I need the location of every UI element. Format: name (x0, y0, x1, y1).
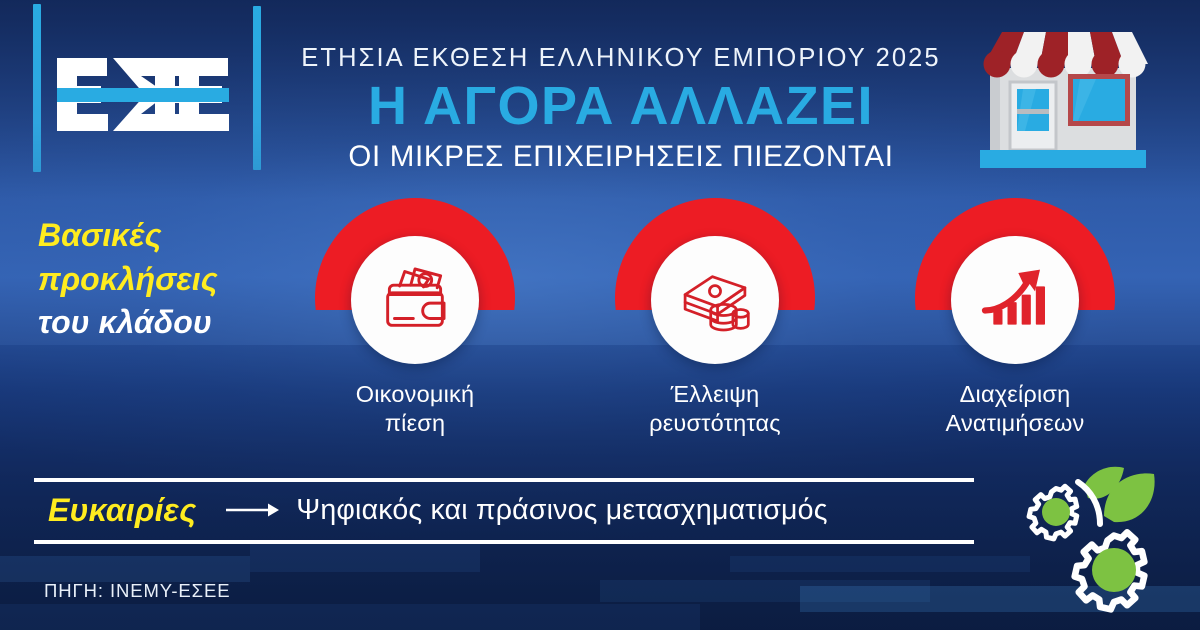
background-stripe (730, 556, 1030, 572)
challenges-heading: Βασικές προκλήσεις του κλάδου (38, 214, 303, 345)
shop-storefront-icon (968, 24, 1158, 184)
challenge-card-label: Οικονομική πίεση (297, 380, 533, 437)
challenges-heading-line-3: του κλάδου (38, 301, 303, 345)
challenge-card-label: Διαχείριση Ανατιμήσεων (897, 380, 1133, 437)
background-stripe (0, 556, 250, 582)
challenge-card-label: Έλλειψη ρευστότητας (597, 380, 833, 437)
challenge-label-line-1: Έλλειψη (597, 380, 833, 409)
sub-headline: ΟΙ ΜΙΚΡΕΣ ΕΠΙΧΕΙΡΗΣΕΙΣ ΠΙΕΖΟΝΤΑΙ (276, 142, 966, 172)
challenge-card-economic-pressure: Οικονομική πίεση (297, 198, 533, 437)
challenges-heading-line-1: Βασικές (38, 214, 303, 258)
icon-disc (351, 236, 479, 364)
source-note: ΠΗΓΗ: ΙΝΕΜΥ-ΕΣΕΕ (44, 580, 230, 602)
opportunities-text: Ψηφιακός και πράσινος μετασχηματισμός (296, 494, 827, 527)
rising-bar-chart-arrow-icon (975, 258, 1055, 343)
challenge-label-line-1: Διαχείριση (897, 380, 1133, 409)
report-kicker: ΕΤΗΣΙΑ ΕΚΘΕΣΗ ΕΛΛΗΝΙΚΟΥ ΕΜΠΟΡΙΟΥ 2025 (276, 46, 966, 72)
divider-line-top (34, 478, 974, 482)
accent-bar-middle (253, 6, 261, 170)
background-stripe (0, 604, 700, 630)
opportunities-label: Ευκαιρίες (48, 492, 196, 529)
cash-stack-and-coins-icon (674, 257, 756, 344)
wallet-with-banknotes-icon (374, 257, 456, 344)
esee-logo (55, 52, 230, 137)
challenge-label-line-2: ρευστότητας (597, 409, 833, 438)
challenge-card-price-increase-management: Διαχείριση Ανατιμήσεων (897, 198, 1133, 437)
challenge-card-liquidity-shortage: Έλλειψη ρευστότητας (597, 198, 833, 437)
challenge-label-line-1: Οικονομική (297, 380, 533, 409)
challenges-heading-line-2: προκλήσεις (38, 258, 303, 302)
accent-bar-left (33, 4, 41, 172)
icon-disc (951, 236, 1079, 364)
icon-disc (651, 236, 779, 364)
arrow-right-icon (224, 500, 280, 520)
divider-line-bottom (34, 540, 974, 544)
challenge-label-line-2: Ανατιμήσεων (897, 409, 1133, 438)
gears-with-leaves-icon (1008, 452, 1194, 630)
challenge-label-line-2: πίεση (297, 409, 533, 438)
background-stripe (250, 542, 480, 572)
header-text-block: ΕΤΗΣΙΑ ΕΚΘΕΣΗ ΕΛΛΗΝΙΚΟΥ ΕΜΠΟΡΙΟΥ 2025 Η … (276, 46, 966, 171)
opportunities-row: Ευκαιρίες Ψηφιακός και πράσινος μετασχημ… (34, 487, 984, 533)
main-headline: Η ΑΓΟΡΑ ΑΛΛΑΖΕΙ (276, 79, 966, 134)
